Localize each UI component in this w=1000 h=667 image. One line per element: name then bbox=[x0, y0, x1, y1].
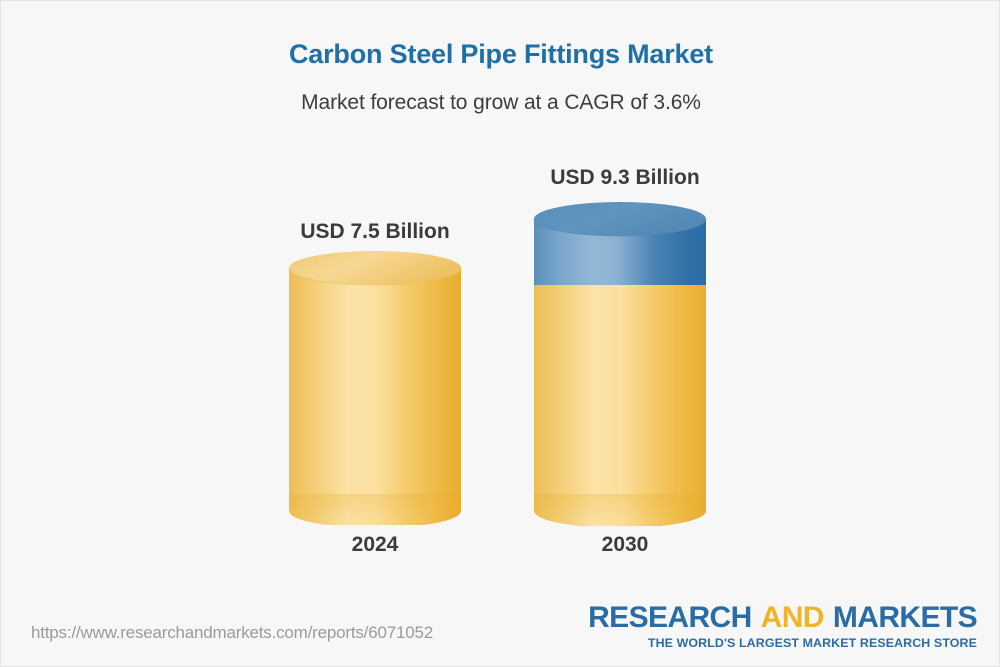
brand-word-research: RESEARCH bbox=[588, 601, 752, 634]
brand-tagline: THE WORLD'S LARGEST MARKET RESEARCH STOR… bbox=[588, 637, 977, 649]
brand-word-and: AND bbox=[761, 601, 824, 634]
bar-value-label-2024: USD 7.5 Billion bbox=[229, 220, 521, 244]
bar-cylinder-2030 bbox=[528, 196, 722, 526]
brand-logo[interactable]: RESEARCHANDMARKETS THE WORLD'S LARGEST M… bbox=[588, 603, 977, 649]
brand-word-markets: MARKETS bbox=[833, 601, 977, 634]
report-url[interactable]: https://www.researchandmarkets.com/repor… bbox=[31, 623, 433, 643]
chart-plot-area: USD 7.5 Billion bbox=[1, 1, 1000, 667]
bar-cylinder-2024 bbox=[283, 245, 467, 525]
brand-wordmark: RESEARCHANDMARKETS bbox=[588, 603, 977, 633]
bar-value-label-2030: USD 9.3 Billion bbox=[479, 166, 771, 190]
chart-canvas: Carbon Steel Pipe Fittings Market Market… bbox=[0, 0, 1000, 667]
bar-category-label-2030: 2030 bbox=[479, 533, 771, 557]
bar-category-label-2024: 2024 bbox=[229, 533, 521, 557]
